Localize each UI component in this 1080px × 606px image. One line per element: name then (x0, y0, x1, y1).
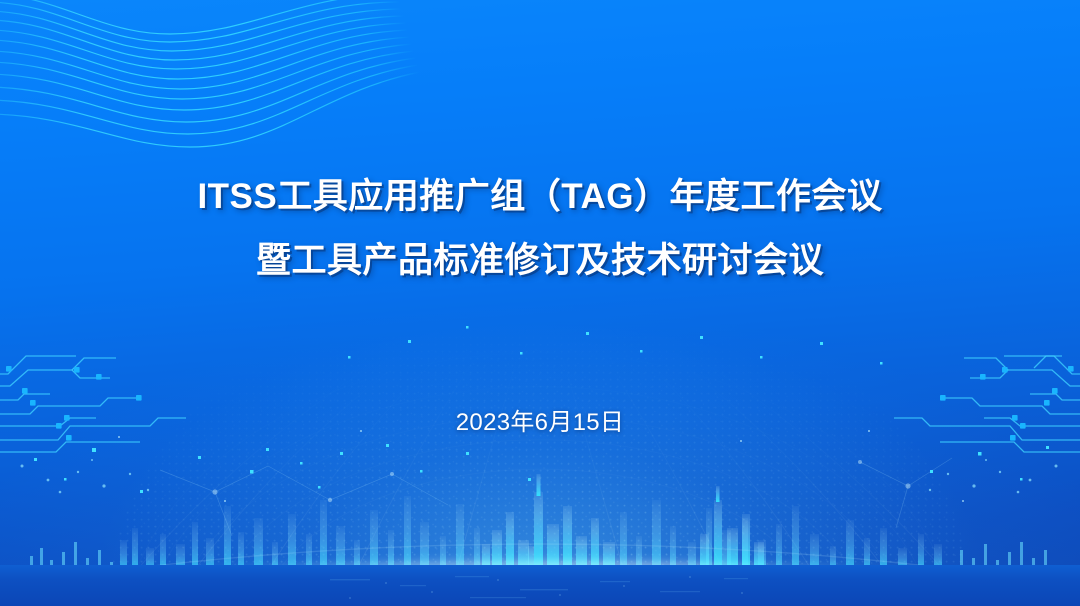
event-date: 2023年6月15日 (0, 402, 1080, 437)
top-wave-decoration (0, 0, 1080, 606)
city-skyline (0, 0, 1080, 606)
title-line-2: 暨工具产品标准修订及技术研讨会议 (0, 232, 1080, 290)
center-glow (0, 0, 1080, 606)
conference-title-slide: ITSS工具应用推广组（TAG）年度工作会议 暨工具产品标准修订及技术研讨会议 … (0, 0, 1080, 606)
title-block: ITSS工具应用推广组（TAG）年度工作会议 暨工具产品标准修订及技术研讨会议 (0, 168, 1080, 290)
title-line-1: ITSS工具应用推广组（TAG）年度工作会议 (0, 168, 1080, 226)
foreground-ground (0, 565, 1080, 606)
circuit-trace-right (0, 0, 1080, 606)
floating-particles (0, 0, 1080, 606)
dotted-globe-dome (0, 0, 1080, 606)
circuit-trace-left (0, 0, 1080, 606)
horizon-glow (0, 0, 1080, 606)
